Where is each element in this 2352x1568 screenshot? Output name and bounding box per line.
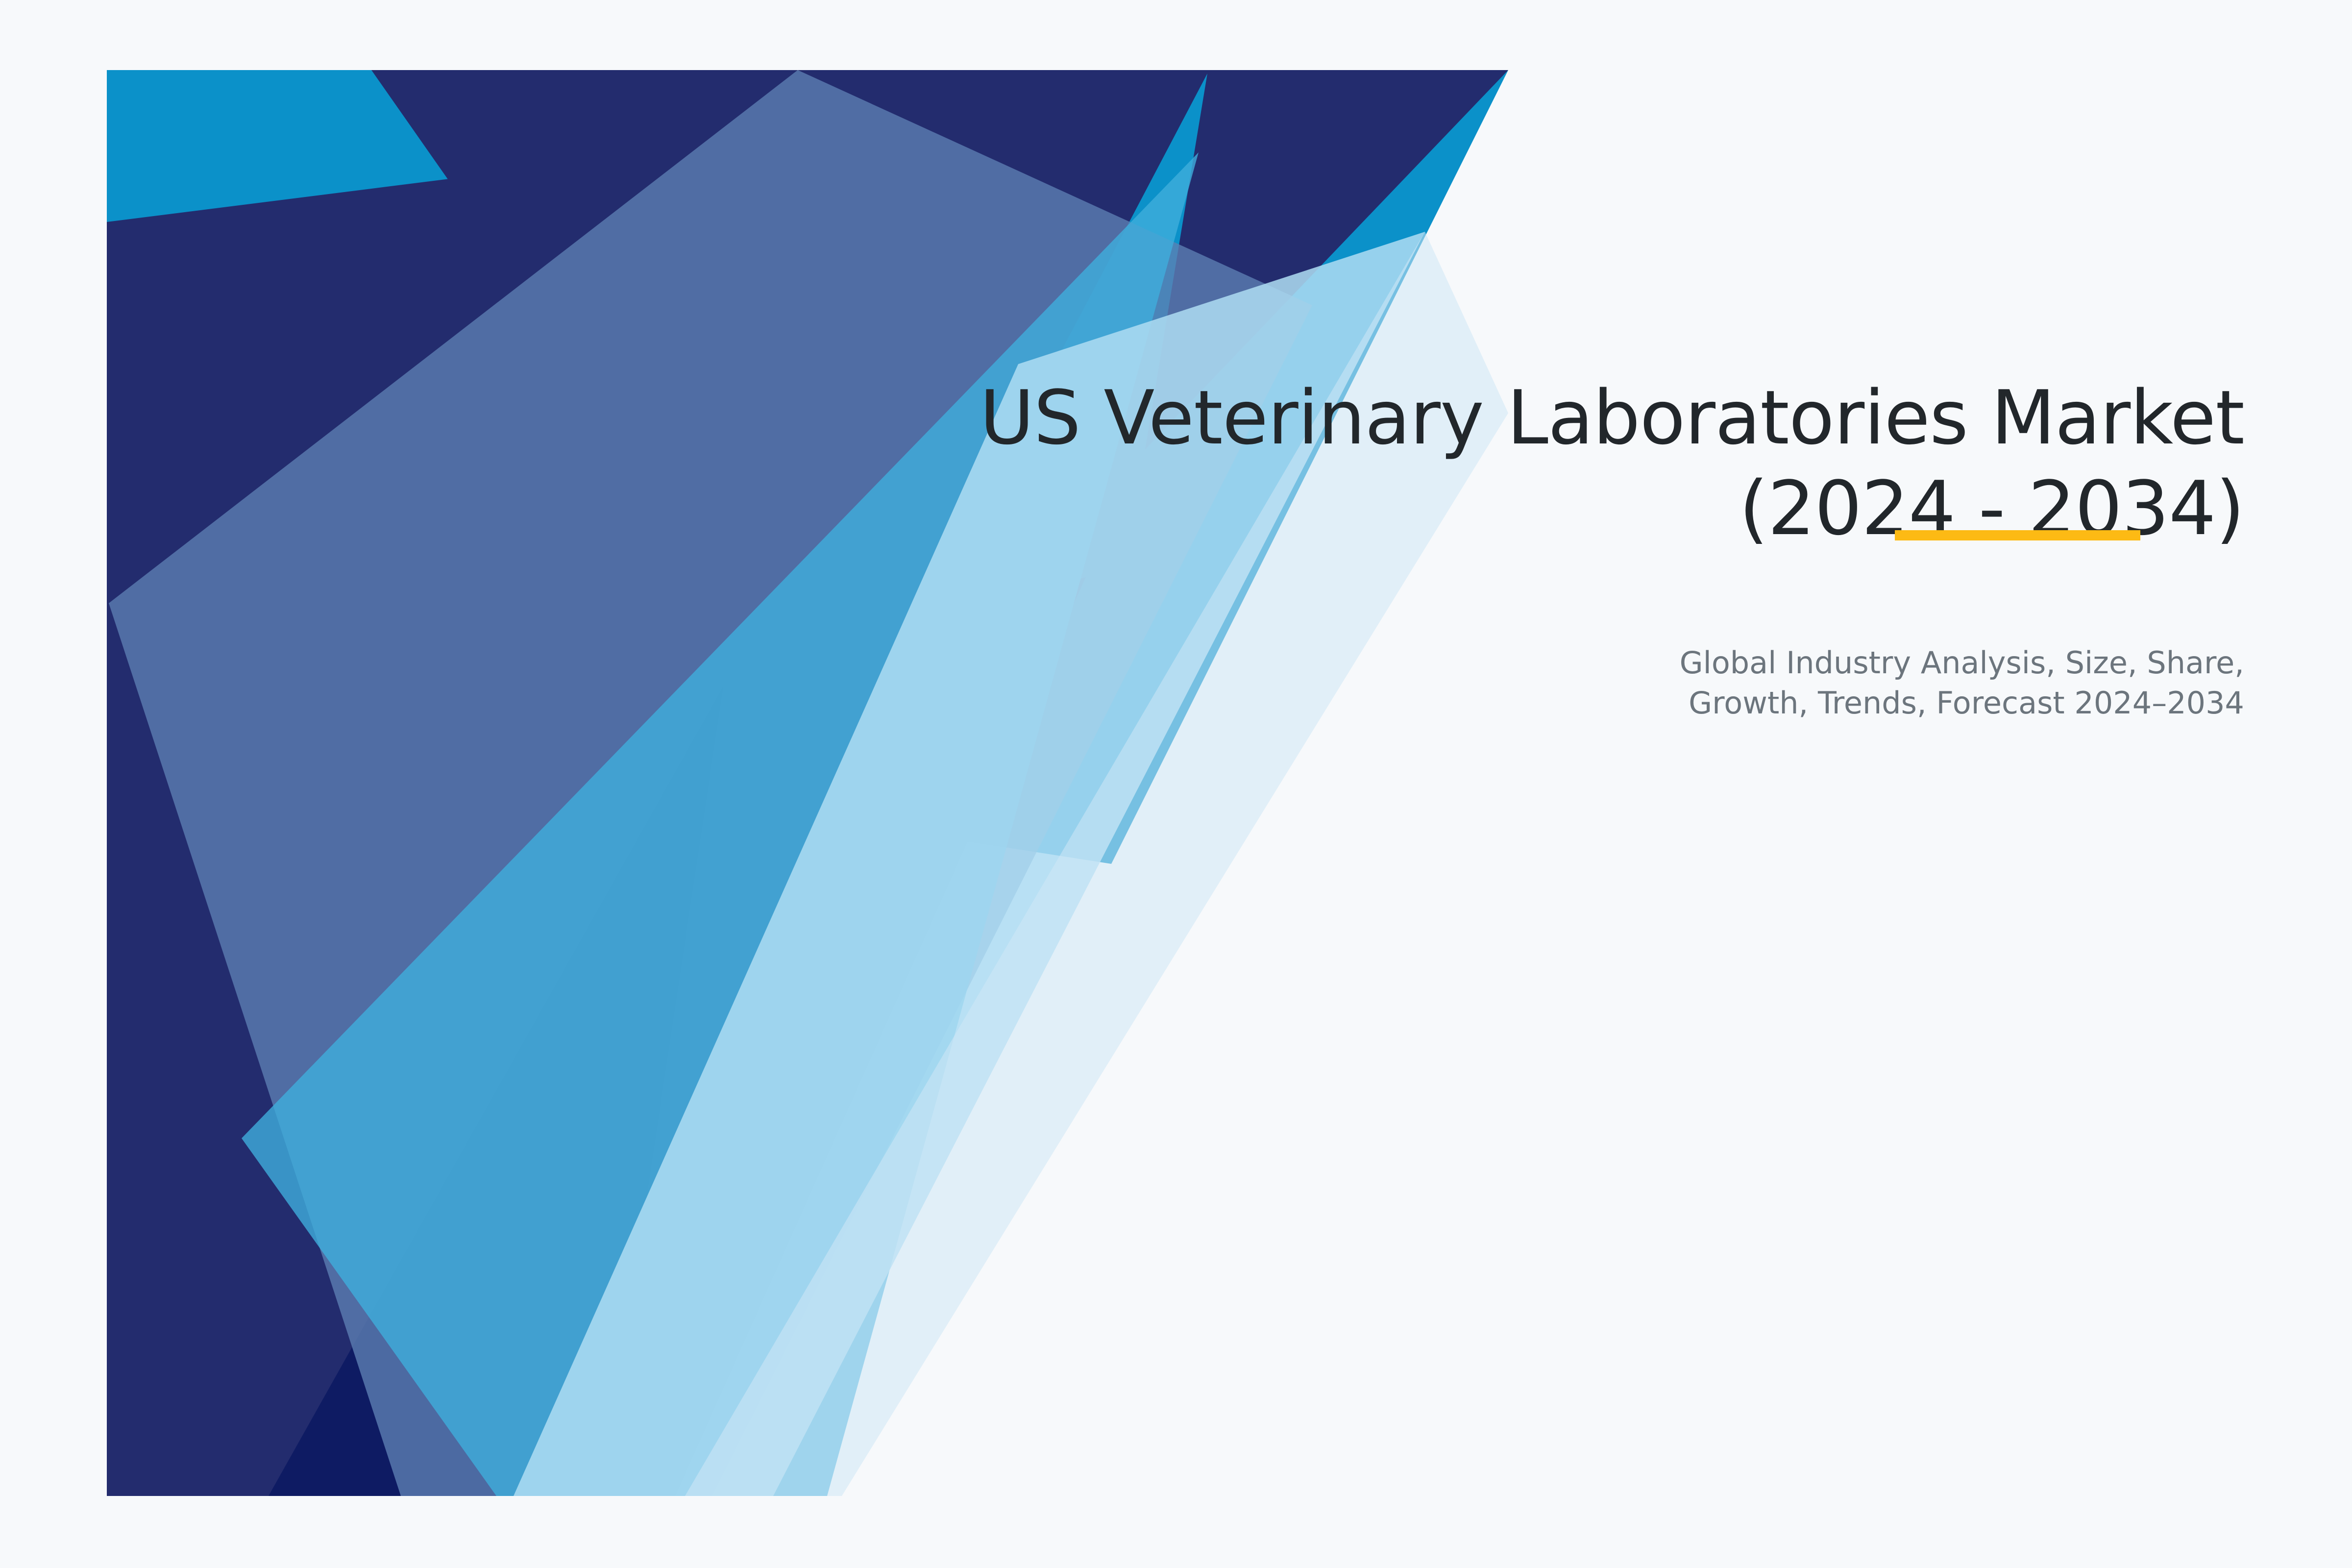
abstract-polygon-cover-graphic bbox=[107, 70, 1508, 1496]
page-subtitle: Global Industry Analysis, Size, Share, G… bbox=[1607, 643, 2244, 724]
title-accent-underline bbox=[1895, 530, 2140, 540]
page-title: US Veterinary Laboratories Market (2024 … bbox=[921, 372, 2244, 554]
cover-page: US Veterinary Laboratories Market (2024 … bbox=[0, 0, 2352, 1568]
artwork-svg bbox=[107, 70, 1508, 1496]
title-block: US Veterinary Laboratories Market (2024 … bbox=[921, 372, 2244, 554]
